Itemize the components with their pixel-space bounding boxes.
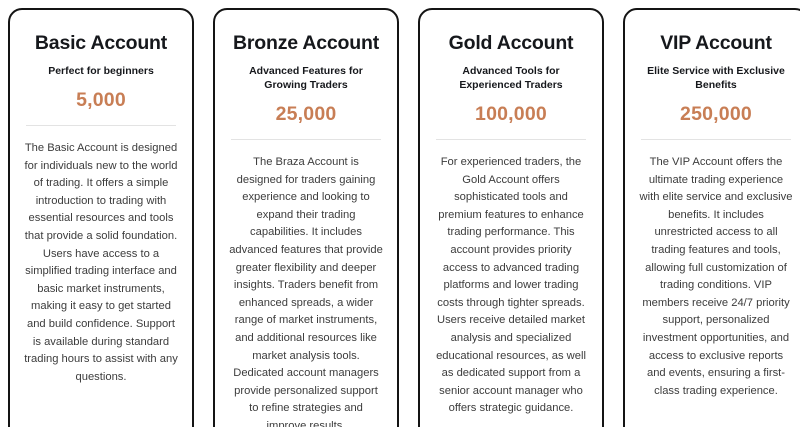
plan-subtitle: Advanced Features for Growing Traders — [230, 64, 382, 92]
pricing-plans-grid: Basic Account Perfect for beginners 5,00… — [0, 0, 800, 427]
plan-divider — [641, 139, 791, 140]
plan-description: For experienced traders, the Gold Accoun… — [434, 154, 588, 418]
plan-card-bronze[interactable]: Bronze Account Advanced Features for Gro… — [213, 8, 399, 427]
plan-description: The VIP Account offers the ultimate trad… — [639, 154, 793, 400]
plan-amount: 100,000 — [431, 103, 591, 126]
plan-description: The Braza Account is designed for trader… — [229, 154, 383, 427]
plan-card-vip[interactable]: VIP Account Elite Service with Exclusive… — [623, 8, 800, 427]
plan-description: The Basic Account is designed for indivi… — [24, 140, 178, 386]
plan-subtitle: Advanced Tools for Experienced Traders — [435, 64, 587, 92]
plan-amount: 25,000 — [226, 103, 386, 126]
plan-card-basic[interactable]: Basic Account Perfect for beginners 5,00… — [8, 8, 194, 427]
plan-subtitle: Perfect for beginners — [25, 64, 177, 78]
plan-title: Bronze Account — [226, 32, 386, 55]
plan-divider — [436, 139, 586, 140]
plan-divider — [231, 139, 381, 140]
plan-subtitle: Elite Service with Exclusive Benefits — [640, 64, 792, 92]
plan-amount: 5,000 — [21, 89, 181, 112]
plan-card-gold[interactable]: Gold Account Advanced Tools for Experien… — [418, 8, 604, 427]
plan-amount: 250,000 — [636, 103, 796, 126]
plan-title: Gold Account — [431, 32, 591, 55]
plan-title: VIP Account — [636, 32, 796, 55]
plan-title: Basic Account — [21, 32, 181, 55]
plan-divider — [26, 125, 176, 126]
